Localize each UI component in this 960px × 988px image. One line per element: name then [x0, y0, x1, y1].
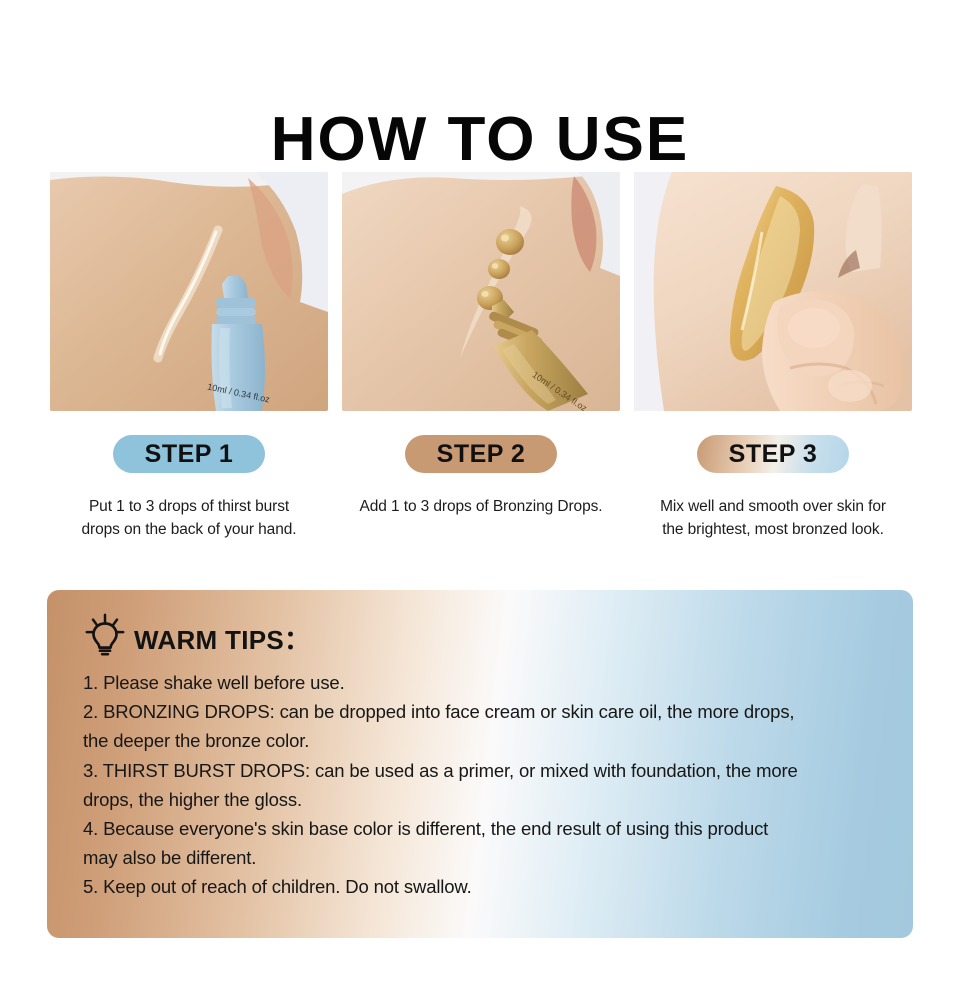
step-3-illustration	[634, 172, 912, 411]
step-1-illustration: 10ml / 0.34 fl.oz	[50, 172, 328, 411]
steps-row: 10ml / 0.34 fl.oz STEP 1 Put 1 to 3 drop…	[50, 172, 912, 541]
page-title: HOW TO USE	[0, 104, 960, 176]
tip-line: the deeper the bronze color.	[83, 726, 883, 755]
step-2-badge: STEP 2	[405, 435, 557, 473]
step-1-caption-line-2: drops on the back of your hand.	[55, 518, 323, 541]
step-2-illustration: 10ml / 0.34 fl.oz	[342, 172, 620, 411]
step-1-caption-line-1: Put 1 to 3 drops of thirst burst	[55, 495, 323, 518]
tip-line: 2. BRONZING DROPS: can be dropped into f…	[83, 697, 883, 726]
step-3-caption-line-2: the brightest, most bronzed look.	[639, 518, 907, 541]
warm-tips-title: WARM TIPS：	[134, 625, 310, 658]
tip-line: 4. Because everyone's skin base color is…	[83, 814, 883, 843]
step-1-badge: STEP 1	[113, 435, 265, 473]
step-2-caption-line-1: Add 1 to 3 drops of Bronzing Drops.	[347, 495, 615, 518]
step-card-1: 10ml / 0.34 fl.oz STEP 1 Put 1 to 3 drop…	[50, 172, 328, 541]
step-3-badge: STEP 3	[697, 435, 849, 473]
step-card-2: 10ml / 0.34 fl.oz STEP 2 Add 1 to 3 drop…	[342, 172, 620, 541]
warm-tips-list: 1. Please shake well before use. 2. BRON…	[83, 668, 883, 902]
tip-line: 1. Please shake well before use.	[83, 668, 883, 697]
step-1-caption: Put 1 to 3 drops of thirst burst drops o…	[55, 495, 323, 541]
step-3-caption-line-1: Mix well and smooth over skin for	[639, 495, 907, 518]
warm-tips-header: WARM TIPS：	[82, 614, 310, 658]
tip-line: 3. THIRST BURST DROPS: can be used as a …	[83, 756, 883, 785]
step-2-photo: 10ml / 0.34 fl.oz	[342, 172, 620, 411]
step-3-caption: Mix well and smooth over skin for the br…	[639, 495, 907, 541]
warm-tips-panel: WARM TIPS： 1. Please shake well before u…	[47, 590, 913, 938]
lightbulb-icon	[82, 612, 128, 658]
tip-line: drops, the higher the gloss.	[83, 785, 883, 814]
tip-line: may also be different.	[83, 843, 883, 872]
step-card-3: STEP 3 Mix well and smooth over skin for…	[634, 172, 912, 541]
step-1-photo: 10ml / 0.34 fl.oz	[50, 172, 328, 411]
tip-line: 5. Keep out of reach of children. Do not…	[83, 872, 883, 901]
step-3-photo	[634, 172, 912, 411]
step-2-caption: Add 1 to 3 drops of Bronzing Drops.	[347, 495, 615, 518]
